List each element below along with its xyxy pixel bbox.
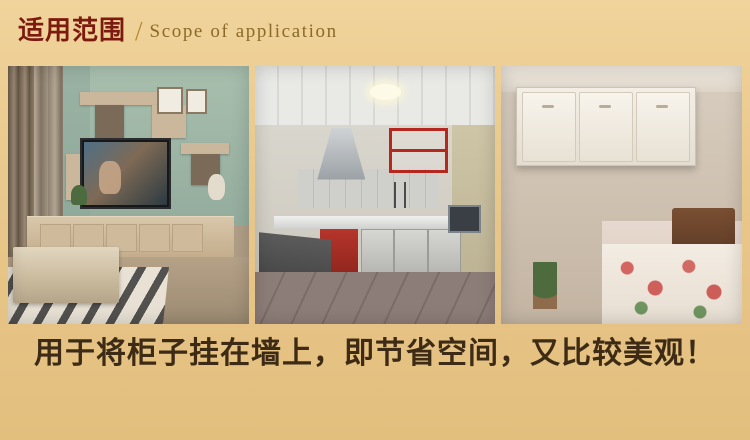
wall-shelf-box-a bbox=[95, 105, 124, 139]
header-title-en: Scope of application bbox=[150, 22, 338, 41]
wall-mounted-white-cabinet bbox=[516, 87, 696, 166]
cabinet-door-right bbox=[636, 92, 690, 162]
photo-kitchen bbox=[255, 66, 496, 324]
vase-a bbox=[208, 174, 225, 200]
picture-frame-b bbox=[186, 89, 207, 114]
wall-shelf-right bbox=[181, 143, 229, 153]
ceiling-light bbox=[370, 84, 401, 99]
red-wall-cabinet bbox=[389, 128, 448, 173]
kitchen-countertop bbox=[274, 216, 457, 229]
photo-gallery bbox=[8, 66, 742, 324]
television bbox=[80, 138, 171, 209]
cabinet-handle-c bbox=[656, 105, 668, 108]
picture-frame-a bbox=[157, 87, 183, 114]
cabinet-handle-b bbox=[599, 105, 611, 108]
coffee-table bbox=[13, 247, 119, 304]
header-divider bbox=[18, 50, 318, 52]
photo-living-room bbox=[8, 66, 249, 324]
hanging-utensil-b bbox=[404, 182, 406, 208]
cabinet-handle-a bbox=[542, 105, 554, 108]
floral-quilt bbox=[602, 244, 742, 324]
section-header: 适用范围 / Scope of application bbox=[0, 0, 750, 62]
cabinet-door-left bbox=[522, 92, 576, 162]
header-separator: / bbox=[135, 18, 143, 45]
cabinet-door-middle bbox=[579, 92, 633, 162]
microwave bbox=[448, 205, 481, 232]
hanging-utensil-a bbox=[394, 182, 396, 208]
header-title-cn: 适用范围 bbox=[18, 18, 126, 44]
page-root: 适用范围 / Scope of application bbox=[0, 0, 750, 440]
kitchen-floor bbox=[255, 272, 496, 324]
potted-plant-bedroom bbox=[533, 262, 557, 308]
photo-bedroom bbox=[501, 66, 742, 324]
potted-plant-a bbox=[71, 185, 88, 206]
caption-text: 用于将柜子挂在墙上，即节省空间，又比较美观！ bbox=[0, 336, 750, 372]
